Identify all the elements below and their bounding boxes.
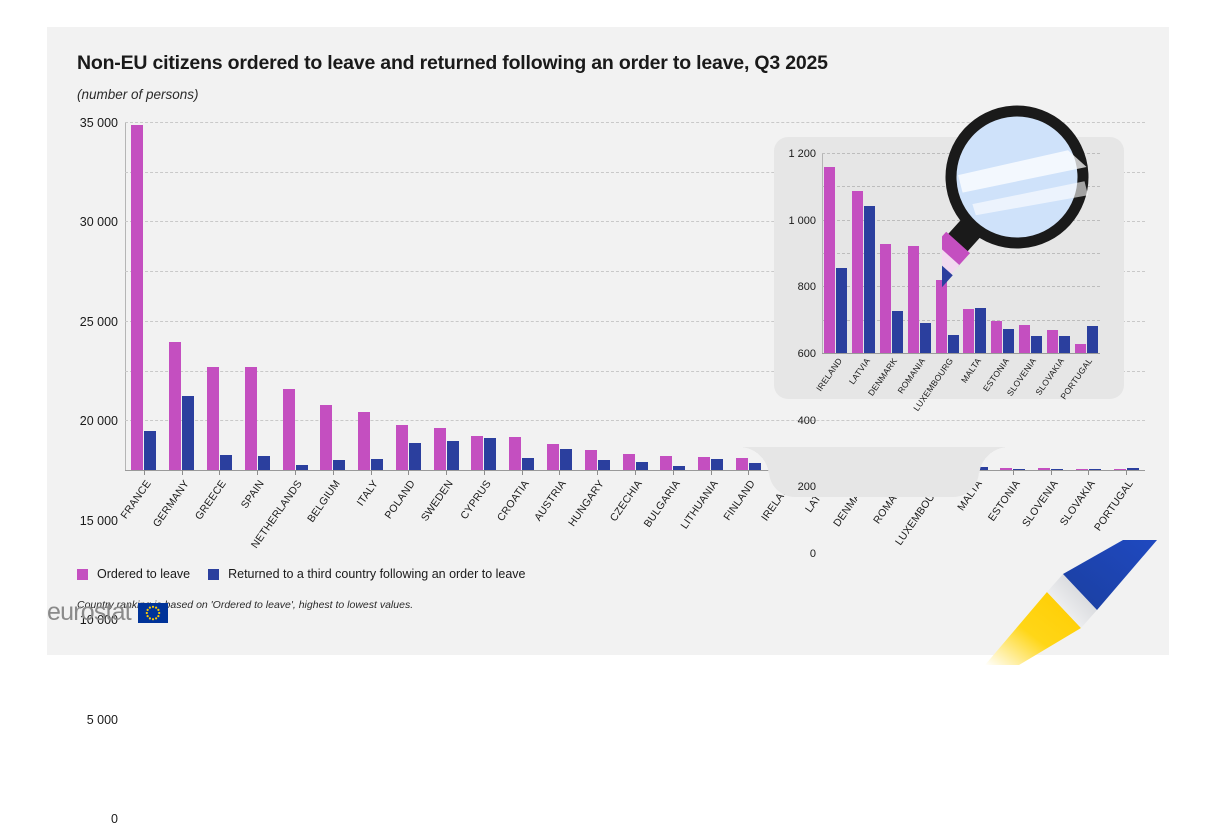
bar-ordered-to-leave[interactable] [131,125,143,470]
eu-flag-icon [138,603,168,623]
inset-bar-series-group [822,153,1100,353]
x-axis-label-cell: LITHUANIA [692,476,730,571]
x-axis-tick-label: MALTA [959,356,983,385]
bar-returned[interactable] [948,335,959,353]
bar-group[interactable] [730,122,768,470]
bar-group[interactable] [503,122,541,470]
bar-ordered-to-leave[interactable] [169,342,181,470]
bar-returned[interactable] [144,431,156,470]
bar-returned[interactable] [333,460,345,470]
bar-group[interactable] [578,122,616,470]
x-axis-tick-label: FRANCE [118,478,153,521]
bar-group[interactable] [933,153,961,353]
x-axis-tick [446,470,447,475]
eurostat-ribbon-graphic [985,540,1185,665]
x-axis-label-cell: GERMANY [163,476,201,571]
bar-group[interactable] [389,122,427,470]
bar-ordered-to-leave[interactable] [660,456,672,470]
bar-ordered-to-leave[interactable] [358,412,370,470]
bar-ordered-to-leave[interactable] [1075,344,1086,353]
eurostat-logo: eurostat [47,598,168,627]
y-axis-tick-label: 800 [798,281,816,293]
y-axis-tick-label: 5 000 [87,713,118,727]
x-axis-label-cell: LUXEMBOURG [933,355,961,399]
inset-bar-chart: 02004006008001 0001 200 [822,153,1100,353]
bar-ordered-to-leave[interactable] [434,428,446,470]
bar-group[interactable] [1017,153,1045,353]
bar-group[interactable] [276,122,314,470]
bar-ordered-to-leave[interactable] [908,246,919,353]
x-axis-label-cell: PORTUGAL [1072,355,1100,399]
chart-legend: Ordered to leave Returned to a third cou… [77,567,526,581]
x-axis-tick-label: ITALY [354,478,380,508]
bar-group[interactable] [1044,153,1072,353]
inset-panel: 02004006008001 0001 200 IRELANDLATVIADEN… [774,137,1124,399]
bar-ordered-to-leave[interactable] [623,454,635,470]
bar-group[interactable] [427,122,465,470]
x-axis-tick [1088,470,1089,475]
bar-group[interactable] [878,153,906,353]
y-axis-tick-label: 15 000 [80,514,118,528]
eurostat-logo-text: eurostat [47,598,131,627]
bar-ordered-to-leave[interactable] [824,167,835,353]
y-axis-tick-label: 600 [798,348,816,360]
x-axis-label-cell: HUNGARY [578,476,616,571]
legend-swatch-returned [208,569,219,580]
x-axis-label-cell: SWEDEN [427,476,465,571]
bar-ordered-to-leave[interactable] [547,444,559,470]
bar-returned[interactable] [892,311,903,354]
x-axis-tick-label: LATVIA [847,356,872,386]
bar-returned[interactable] [711,459,723,470]
y-axis-tick-label: 30 000 [80,215,118,229]
bar-group[interactable] [541,122,579,470]
bar-ordered-to-leave[interactable] [585,450,597,470]
bar-ordered-to-leave[interactable] [245,367,257,470]
bar-returned[interactable] [560,449,572,470]
bar-returned[interactable] [1089,469,1101,470]
x-axis-tick [219,470,220,475]
bar-ordered-to-leave[interactable] [1076,469,1088,470]
bar-group[interactable] [692,122,730,470]
bar-returned[interactable] [598,460,610,470]
y-axis-tick-label: 0 [111,812,118,826]
bar-returned[interactable] [296,465,308,470]
bar-returned[interactable] [220,455,232,470]
bar-returned[interactable] [258,456,270,470]
x-axis-tick [295,470,296,475]
bar-returned[interactable] [836,268,847,353]
bar-ordered-to-leave[interactable] [509,437,521,470]
bar-ordered-to-leave[interactable] [1047,330,1058,353]
bar-group[interactable] [1072,153,1100,353]
bar-returned[interactable] [673,466,685,470]
x-axis-tick [711,470,712,475]
bar-group[interactable] [850,153,878,353]
x-axis-label-cell: IRELAND [822,355,850,399]
bar-ordered-to-leave[interactable] [880,244,891,353]
bar-returned[interactable] [1013,469,1025,470]
bar-group[interactable] [238,122,276,470]
bar-ordered-to-leave[interactable] [936,280,947,353]
y-axis-tick-label: 20 000 [80,414,118,428]
bar-returned[interactable] [636,462,648,470]
bar-ordered-to-leave[interactable] [963,309,974,353]
bar-ordered-to-leave[interactable] [991,321,1002,353]
bar-returned[interactable] [864,206,875,353]
page-title: Non-EU citizens ordered to leave and ret… [77,52,828,75]
gridline: 0 [822,353,1100,354]
bar-ordered-to-leave[interactable] [698,457,710,470]
bar-returned[interactable] [182,396,194,470]
bar-returned[interactable] [371,459,383,470]
bar-returned[interactable] [1087,326,1098,353]
chart-page: Non-EU citizens ordered to leave and ret… [0,0,1216,684]
x-axis-label-cell: BELGIUM [314,476,352,571]
y-axis-tick-label: 200 [798,481,816,493]
y-axis-tick-label: 35 000 [80,116,118,130]
x-axis-label-cell: ITALY [352,476,390,571]
y-axis-tick-label: 1 000 [788,215,816,227]
bar-group[interactable] [616,122,654,470]
bar-ordered-to-leave[interactable] [207,367,219,470]
bar-group[interactable] [465,122,503,470]
x-axis-tick [1013,470,1014,475]
y-axis-tick-label: 25 000 [80,315,118,329]
bar-group[interactable] [654,122,692,470]
bar-group[interactable] [822,153,850,353]
bar-ordered-to-leave[interactable] [852,191,863,354]
bar-group[interactable] [314,122,352,470]
bar-returned[interactable] [1031,336,1042,354]
legend-swatch-ordered [77,569,88,580]
bar-returned[interactable] [1127,468,1139,470]
bar-returned[interactable] [447,441,459,470]
x-axis-tick [257,470,258,475]
x-axis-tick-label: IRELAND [814,356,844,393]
x-axis-tick [408,470,409,475]
bar-group[interactable] [201,122,239,470]
y-axis-tick-label: 0 [810,548,816,560]
x-axis-tick [182,470,183,475]
bar-group[interactable] [163,122,201,470]
x-axis-tick [1126,470,1127,475]
bar-returned[interactable] [484,438,496,470]
bar-returned[interactable] [1003,329,1014,353]
bar-ordered-to-leave[interactable] [1114,469,1126,470]
x-axis-label-cell: POLAND [389,476,427,571]
bar-ordered-to-leave[interactable] [283,389,295,470]
inset-x-axis-labels: IRELANDLATVIADENMARKROMANIALUXEMBOURGMAL… [822,355,1100,399]
x-axis-tick [1051,470,1052,475]
bar-returned[interactable] [1051,469,1063,470]
x-axis-label-cell: MALTA [961,355,989,399]
y-axis-tick-label: 1 200 [788,148,816,160]
x-axis-label-cell: FINLAND [730,476,768,571]
x-axis-tick-label: SPAIN [239,478,267,511]
x-axis-tick [522,470,523,475]
bar-group[interactable] [961,153,989,353]
chart-subtitle: (number of persons) [77,87,199,102]
bar-ordered-to-leave[interactable] [396,425,408,470]
bar-group[interactable] [905,153,933,353]
bar-ordered-to-leave[interactable] [320,405,332,470]
bar-returned[interactable] [920,323,931,353]
x-axis-tick [673,470,674,475]
x-axis-label-cell: CROATIA [503,476,541,571]
x-axis-tick [597,470,598,475]
x-axis-label-cell: GREECE [201,476,239,571]
x-axis-tick [371,470,372,475]
bar-returned[interactable] [409,443,421,470]
x-axis-tick [333,470,334,475]
x-axis-tick [635,470,636,475]
bar-returned[interactable] [1059,336,1070,354]
legend-label-ordered: Ordered to leave [97,567,190,581]
bar-group[interactable] [125,122,163,470]
x-axis-tick [144,470,145,475]
x-axis-label-cell: NETHERLANDS [276,476,314,571]
x-axis-label-cell: CYPRUS [465,476,503,571]
bar-ordered-to-leave[interactable] [471,436,483,470]
bar-returned[interactable] [975,308,986,353]
x-axis-tick [484,470,485,475]
legend-label-returned: Returned to a third country following an… [228,567,525,581]
bar-returned[interactable] [522,458,534,470]
bar-ordered-to-leave[interactable] [1019,325,1030,353]
x-axis-tick [559,470,560,475]
bar-group[interactable] [352,122,390,470]
bar-ordered-to-leave[interactable] [1038,468,1050,470]
bar-group[interactable] [989,153,1017,353]
y-axis-tick-label: 400 [798,415,816,427]
